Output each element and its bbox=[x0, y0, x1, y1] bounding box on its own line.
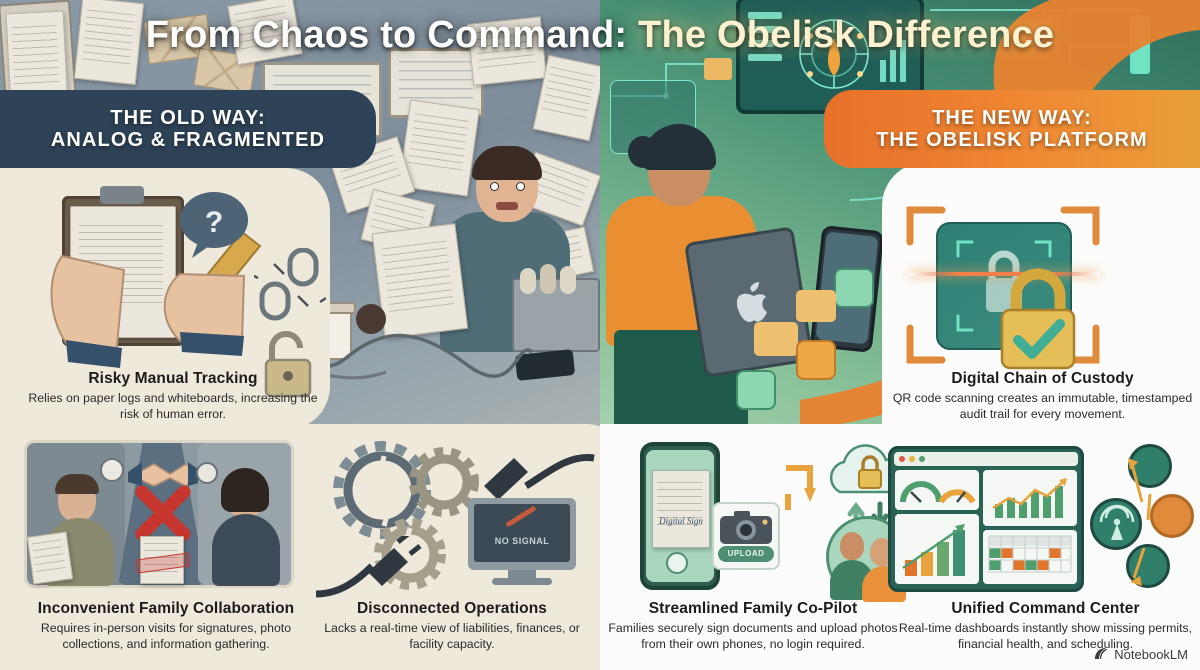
title-part-chaos: From Chaos to Command: bbox=[146, 14, 638, 56]
question-bubble-icon: ? bbox=[178, 190, 250, 260]
infographic-canvas: ? bbox=[0, 0, 1200, 670]
left-item-3-text: Disconnected Operations Lacks a real-tim… bbox=[312, 600, 592, 653]
file-folder bbox=[540, 264, 556, 294]
right-item-1-body: QR code scanning creates an immutable, t… bbox=[890, 391, 1195, 423]
page-title: From Chaos to Command: The Obelisk Diffe… bbox=[0, 14, 1200, 57]
check-badge-icon bbox=[666, 552, 688, 574]
eye-left bbox=[490, 182, 499, 191]
office-woman-hair bbox=[221, 468, 269, 512]
left-banner-line1: THE OLD WAY: bbox=[110, 107, 265, 129]
watermark-label: NotebookLM bbox=[1114, 647, 1188, 662]
hair-shape bbox=[472, 146, 542, 180]
left-item-1-text: Risky Manual Tracking Relies on paper lo… bbox=[28, 370, 318, 423]
gauge-icon bbox=[899, 474, 977, 508]
unplugged-cord-icon bbox=[314, 536, 434, 600]
left-item-2-body: Requires in-person visits for signatures… bbox=[16, 621, 316, 653]
calendar-grid-icon bbox=[987, 534, 1073, 580]
left-item-3-body: Lacks a real-time view of liabilities, f… bbox=[312, 621, 592, 653]
signature-text: Digital Sign bbox=[654, 516, 708, 526]
notebooklm-icon bbox=[1093, 646, 1109, 662]
left-banner-line2: ANALOG & FRAGMENTED bbox=[51, 129, 325, 151]
file-folder bbox=[520, 268, 536, 294]
red-x-icon bbox=[134, 484, 192, 542]
file-folder bbox=[560, 266, 576, 294]
tablet-logo-icon bbox=[728, 282, 772, 326]
right-banner: THE NEW WAY: THE OBELISK PLATFORM bbox=[824, 90, 1200, 168]
left-item-1-body: Relies on paper logs and whiteboards, in… bbox=[28, 391, 318, 423]
left-item-3-title: Disconnected Operations bbox=[312, 600, 592, 618]
wall-clock-icon bbox=[100, 458, 124, 482]
window-maximize-dot[interactable] bbox=[919, 456, 925, 462]
folder-icon bbox=[704, 58, 732, 80]
right-item-1-text: Digital Chain of Custody QR code scannin… bbox=[890, 370, 1195, 423]
notebooklm-watermark: NotebookLM bbox=[1093, 646, 1188, 662]
wall-clock-icon bbox=[196, 462, 218, 484]
bar-chart-icon bbox=[987, 474, 1073, 522]
family-member-head bbox=[840, 532, 864, 560]
left-item-2-text: Inconvenient Family Collaboration Requir… bbox=[16, 600, 316, 653]
clipboard-clip bbox=[100, 186, 144, 204]
left-item-2-title: Inconvenient Family Collaboration bbox=[16, 600, 316, 618]
right-item-2-body: Families securely sign documents and upl… bbox=[608, 621, 898, 653]
right-banner-line1: THE NEW WAY: bbox=[932, 107, 1092, 129]
checklist-icon bbox=[736, 370, 776, 410]
office-woman-body bbox=[212, 514, 280, 586]
hair-bun bbox=[628, 136, 658, 168]
writing-hand-icon bbox=[40, 230, 160, 370]
upload-label: UPLOAD bbox=[718, 549, 774, 558]
monitor-base bbox=[492, 578, 552, 585]
node-connectors-icon bbox=[1084, 436, 1200, 596]
window-close-dot[interactable] bbox=[899, 456, 905, 462]
right-banner-line2: THE OBELISK PLATFORM bbox=[876, 129, 1148, 151]
left-item-1-title: Risky Manual Tracking bbox=[28, 370, 318, 388]
right-item-3-title: Unified Command Center bbox=[898, 600, 1193, 618]
gold-padlock-check-icon bbox=[992, 266, 1084, 374]
window-minimize-dot[interactable] bbox=[909, 456, 915, 462]
title-part-obelisk: The Obelisk Difference bbox=[638, 14, 1054, 56]
mouth-shape bbox=[496, 202, 518, 210]
left-banner: THE OLD WAY: ANALOG & FRAGMENTED bbox=[0, 90, 376, 168]
camera-icon bbox=[718, 510, 774, 544]
right-item-1-title: Digital Chain of Custody bbox=[890, 370, 1195, 388]
svg-text:?: ? bbox=[205, 206, 223, 239]
broken-chain-icon bbox=[254, 248, 326, 328]
right-item-2-title: Streamlined Family Co-Pilot bbox=[608, 600, 898, 618]
bar-chart-icon bbox=[899, 520, 975, 580]
no-signal-label: NO SIGNAL bbox=[474, 536, 570, 546]
signed-document-icon bbox=[652, 470, 710, 548]
held-document bbox=[27, 531, 73, 584]
right-item-2-text: Streamlined Family Co-Pilot Families sec… bbox=[608, 600, 898, 653]
folder-icon bbox=[754, 322, 798, 356]
driver-hair bbox=[55, 474, 99, 494]
eye-right bbox=[516, 182, 525, 191]
